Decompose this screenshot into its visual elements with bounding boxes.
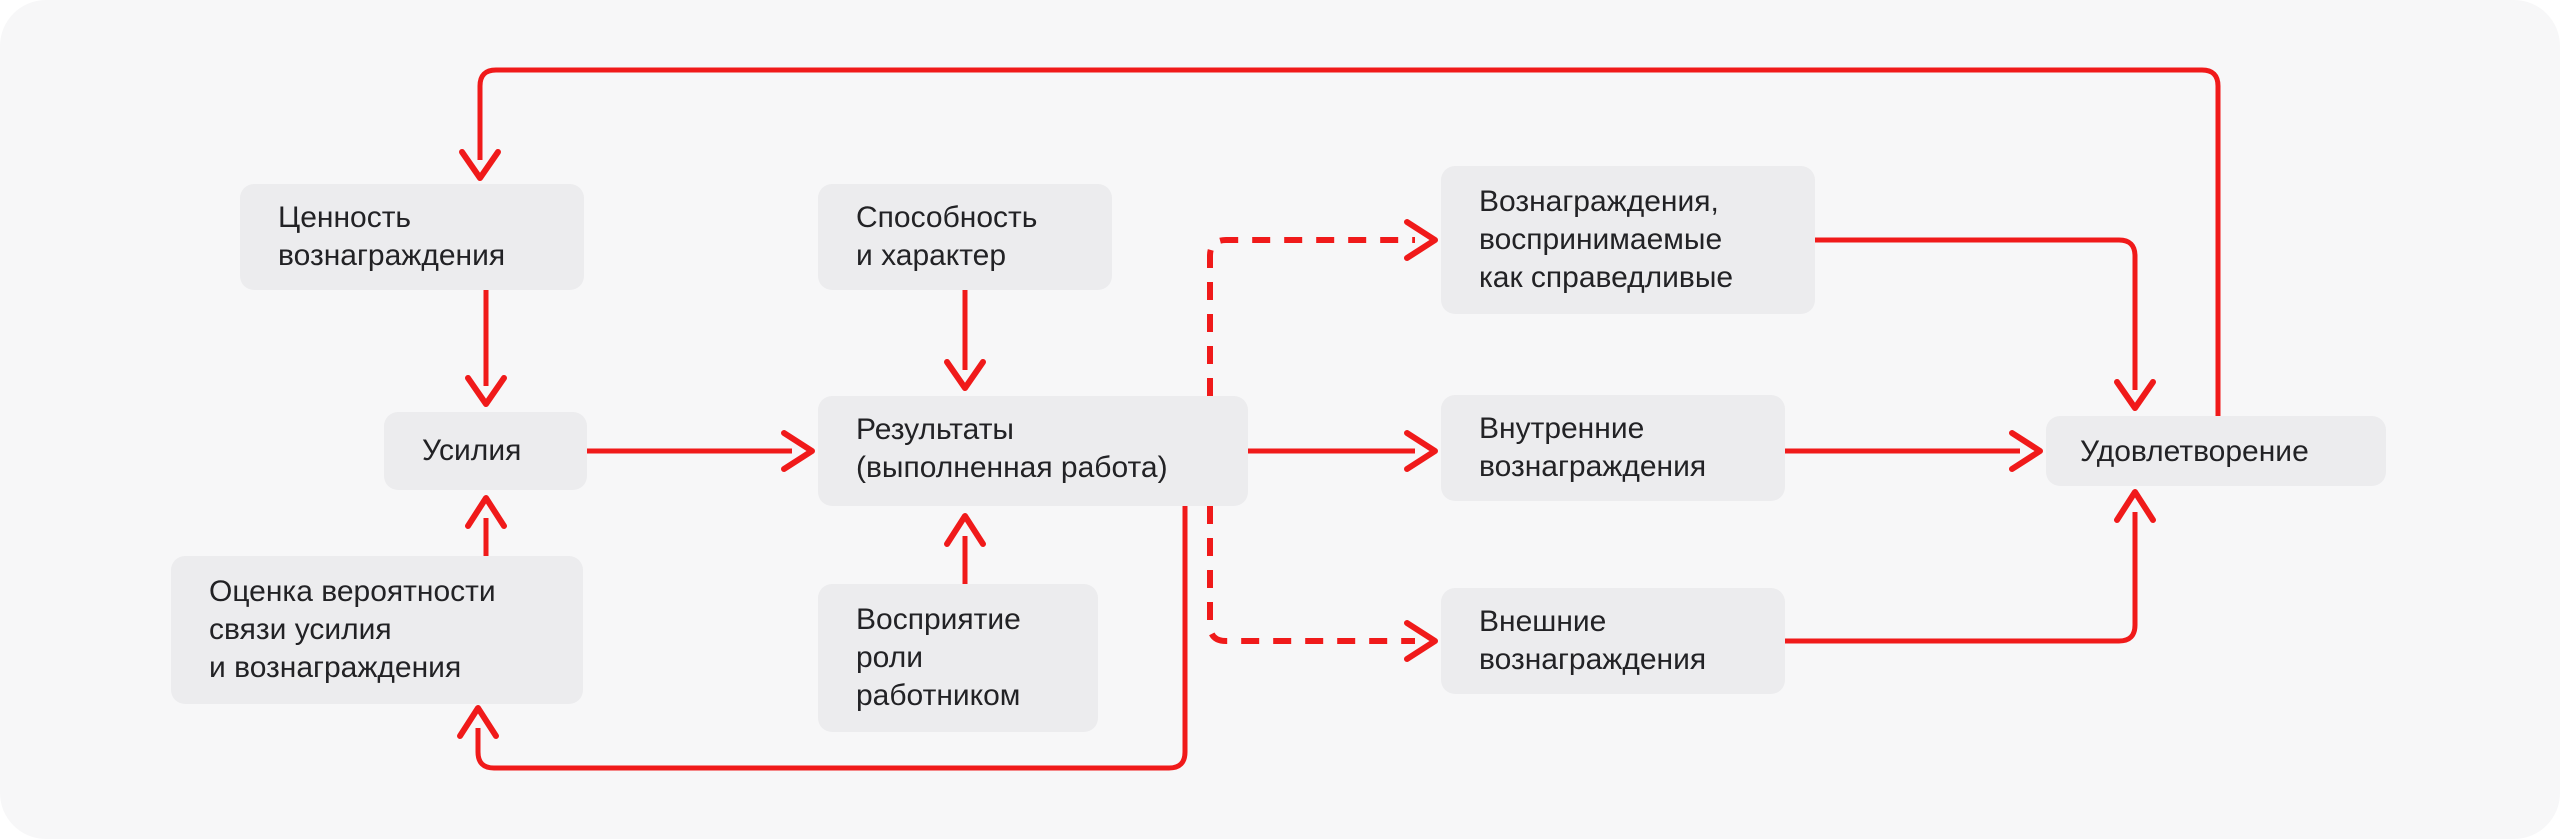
diagram-stage: Ценность вознаграждения Способность и ха… xyxy=(0,0,2560,839)
node-results-work-done[interactable]: Результаты (выполненная работа) xyxy=(818,396,1248,506)
node-intrinsic-rewards-line-1: Внутренние xyxy=(1479,412,1644,445)
edge-probability-to-effort xyxy=(468,498,504,556)
edge-extrinsic-rewards-to-satisfaction xyxy=(1785,492,2153,641)
node-probability-effort-reward-line-1: Оценка вероятности xyxy=(209,575,496,608)
edges-layer xyxy=(460,70,2218,768)
edge-perceived-fair-rewards-to-satisfaction xyxy=(1815,240,2153,408)
node-value-of-reward-line-2: вознаграждения xyxy=(278,239,505,272)
node-probability-effort-reward-line-2: связи усилия xyxy=(209,613,392,646)
edge-ability-to-results xyxy=(947,290,983,388)
node-value-of-reward-box[interactable] xyxy=(240,184,584,290)
edge-results-to-intrinsic-rewards xyxy=(1248,433,1435,469)
node-extrinsic-rewards-line-2: вознаграждения xyxy=(1479,643,1706,676)
node-value-of-reward-line-1: Ценность xyxy=(278,201,411,234)
node-role-perception[interactable]: Восприятие роли работником xyxy=(818,584,1098,732)
node-extrinsic-rewards-box[interactable] xyxy=(1441,588,1785,694)
node-value-of-reward[interactable]: Ценность вознаграждения xyxy=(240,184,584,290)
node-role-perception-line-3: работником xyxy=(856,679,1020,712)
flowchart-svg: Ценность вознаграждения Способность и ха… xyxy=(0,0,2560,839)
node-extrinsic-rewards[interactable]: Внешние вознаграждения xyxy=(1441,588,1785,694)
node-probability-effort-reward-line-3: и вознаграждения xyxy=(209,651,461,684)
node-results-work-done-line-2: (выполненная работа) xyxy=(856,451,1168,484)
edge-intrinsic-rewards-to-satisfaction xyxy=(1785,433,2040,469)
node-ability-and-character-line-1: Способность xyxy=(856,201,1037,234)
node-ability-and-character-line-2: и характер xyxy=(856,239,1006,272)
node-satisfaction-label: Удовлетворение xyxy=(2080,435,2309,468)
node-intrinsic-rewards[interactable]: Внутренние вознаграждения xyxy=(1441,395,1785,501)
edge-satisfaction-feedback-to-value-of-reward xyxy=(462,70,2218,416)
node-ability-and-character[interactable]: Способность и характер xyxy=(818,184,1112,290)
node-intrinsic-rewards-box[interactable] xyxy=(1441,395,1785,501)
edge-value-of-reward-to-effort xyxy=(468,290,504,404)
edge-results-to-extrinsic-rewards xyxy=(1210,506,1435,659)
node-perceived-fair-rewards-line-3: как справедливые xyxy=(1479,261,1733,294)
node-intrinsic-rewards-line-2: вознаграждения xyxy=(1479,450,1706,483)
node-perceived-fair-rewards-line-2: воспринимаемые xyxy=(1479,223,1722,256)
diagram-canvas: Ценность вознаграждения Способность и ха… xyxy=(0,0,2560,839)
node-effort-label: Усилия xyxy=(422,434,521,467)
node-role-perception-line-2: роли xyxy=(856,641,923,674)
node-results-work-done-line-1: Результаты xyxy=(856,413,1014,446)
edge-results-to-perceived-fair-rewards xyxy=(1210,222,1435,396)
node-effort[interactable]: Усилия xyxy=(384,412,587,490)
node-probability-effort-reward[interactable]: Оценка вероятности связи усилия и вознаг… xyxy=(171,556,583,704)
node-role-perception-line-1: Восприятие xyxy=(856,603,1021,636)
edge-role-perception-to-results xyxy=(947,516,983,584)
node-perceived-fair-rewards-line-1: Вознаграждения, xyxy=(1479,185,1719,218)
node-extrinsic-rewards-line-1: Внешние xyxy=(1479,605,1606,638)
node-ability-and-character-box[interactable] xyxy=(818,184,1112,290)
node-perceived-fair-rewards[interactable]: Вознаграждения, воспринимаемые как справ… xyxy=(1441,166,1815,314)
edge-effort-to-results xyxy=(587,433,812,469)
node-satisfaction[interactable]: Удовлетворение xyxy=(2046,416,2386,486)
